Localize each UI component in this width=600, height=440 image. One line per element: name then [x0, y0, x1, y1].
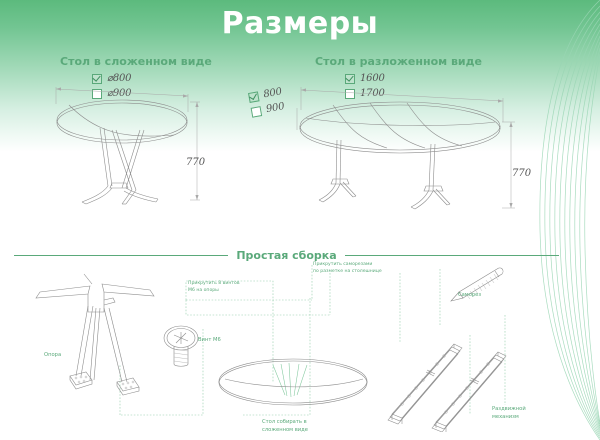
drawing-round-table	[52, 78, 207, 208]
option-label: 800	[263, 86, 283, 100]
drawing-self-tapping-screw	[437, 265, 509, 307]
section-heading-folded: Стол в сложенном виде	[60, 55, 212, 68]
part-label-opora: Опора	[44, 352, 61, 360]
part-label-vint-m6: Винт М6	[198, 337, 221, 345]
part-label-slide-mechanism: Раздвижной механизм	[492, 406, 526, 421]
section-heading-unfolded: Стол в разложенном виде	[315, 55, 482, 68]
drawing-slide-mechanism	[382, 340, 507, 432]
drawing-leg-support-opora	[18, 272, 183, 397]
checkbox-empty-icon[interactable]	[251, 106, 263, 118]
options-unfolded-depth: 800 900	[248, 85, 286, 120]
option-label: 900	[265, 101, 285, 115]
dimension-height-folded: 770	[186, 157, 205, 168]
note-assemble-folded: Стол собирать в сложенном виде	[262, 419, 308, 434]
note-screws-instruction: Прикрутить саморезами по разметке на сто…	[313, 262, 382, 275]
page-title: Размеры	[0, 6, 600, 41]
dimension-height-unfolded: 770	[512, 168, 531, 179]
part-label-samorez: Саморез	[458, 292, 481, 300]
checkbox-checked-icon[interactable]	[248, 91, 260, 103]
drawing-bolt-m6	[160, 322, 208, 372]
infographic-page: Размеры Стол в сложенном виде Стол в раз…	[0, 0, 600, 440]
drawing-tabletop-underside	[215, 355, 375, 417]
drawing-extended-table	[295, 78, 530, 223]
note-bolts-instruction: Прикрутить 8 винтов М6 на опоры	[188, 281, 240, 294]
